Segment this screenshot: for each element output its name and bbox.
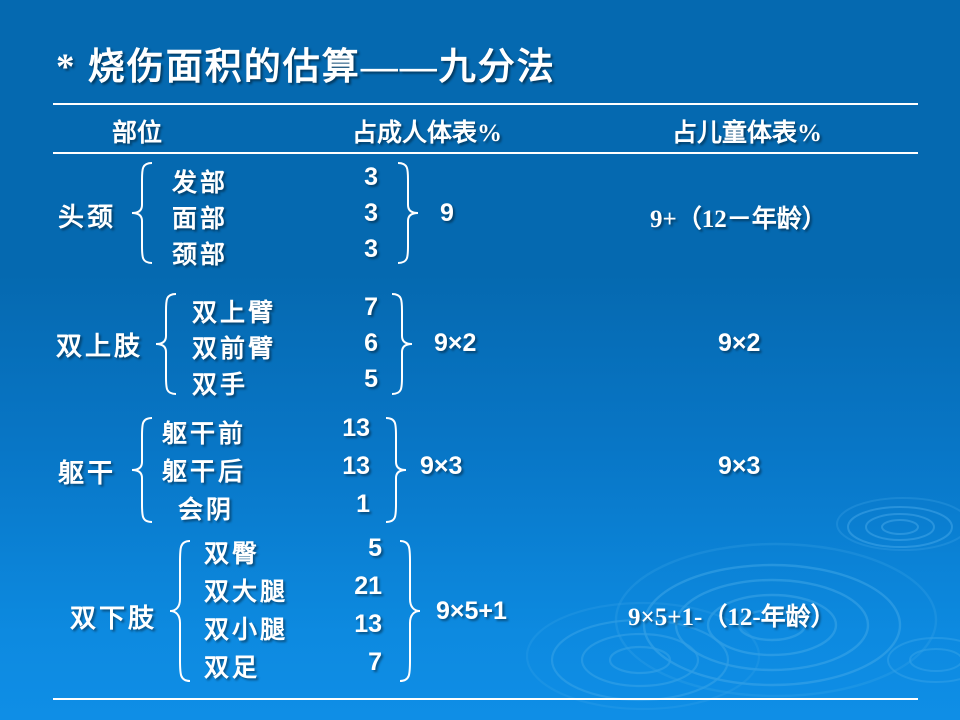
group-child-total: 9×2: [718, 329, 760, 358]
part-label: 双臀: [204, 534, 260, 570]
part-label: 双小腿: [204, 610, 288, 646]
group-label: 双下肢: [70, 598, 157, 635]
part-label: 双大腿: [204, 572, 288, 608]
part-adult-pct: 13: [330, 610, 382, 639]
part-label: 躯干后: [162, 452, 246, 488]
part-adult-pct: 13: [318, 452, 370, 481]
right-brace-icon: [396, 160, 422, 266]
part-adult-pct: 3: [330, 235, 378, 264]
part-label: 双手: [192, 365, 248, 401]
slide-canvas: * 烧伤面积的估算——九分法 部位 占成人体表% 占儿童体表% 头颈 发部 面部…: [0, 0, 960, 720]
part-label: 双足: [204, 648, 260, 684]
part-adult-pct: 21: [330, 572, 382, 601]
header-rule-bottom: [53, 152, 918, 154]
part-label: 发部: [172, 163, 228, 199]
footer-rule: [53, 698, 918, 700]
part-adult-pct: 1: [318, 490, 370, 519]
group-label: 双上肢: [56, 326, 143, 363]
group-adult-total: 9×2: [434, 329, 476, 358]
part-adult-pct: 5: [330, 534, 382, 563]
part-adult-pct: 3: [330, 199, 378, 228]
part-adult-pct: 13: [318, 414, 370, 443]
left-brace-icon: [166, 538, 192, 684]
part-label: 会阴: [178, 490, 234, 526]
part-adult-pct: 6: [330, 329, 378, 358]
group-label: 躯干: [58, 453, 116, 490]
group-child-total: 9+（12－年龄）: [650, 199, 827, 235]
part-label: 颈部: [172, 235, 228, 271]
group-adult-total: 9: [440, 199, 454, 228]
column-header-adult-pct: 占成人体表%: [352, 113, 502, 149]
column-header-region: 部位: [112, 113, 162, 149]
part-adult-pct: 7: [330, 648, 382, 677]
right-brace-icon: [384, 415, 410, 525]
part-adult-pct: 3: [330, 163, 378, 192]
group-adult-total: 9×5+1: [436, 597, 507, 626]
part-adult-pct: 5: [330, 365, 378, 394]
left-brace-icon: [128, 415, 154, 525]
part-label: 躯干前: [162, 414, 246, 450]
group-child-total: 9×5+1-（12-年龄）: [628, 597, 836, 633]
slide-title: * 烧伤面积的估算——九分法: [56, 36, 556, 90]
part-label: 双上臂: [192, 293, 276, 329]
part-label: 双前臂: [192, 329, 276, 365]
group-adult-total: 9×3: [420, 452, 462, 481]
column-header-child-pct: 占儿童体表%: [672, 113, 822, 149]
header-rule-top: [53, 103, 918, 105]
right-brace-icon: [398, 538, 424, 684]
left-brace-icon: [128, 160, 154, 266]
group-child-total: 9×3: [718, 452, 760, 481]
part-label: 面部: [172, 199, 228, 235]
right-brace-icon: [390, 291, 416, 397]
part-adult-pct: 7: [330, 293, 378, 322]
left-brace-icon: [152, 291, 178, 397]
group-label: 头颈: [58, 197, 116, 234]
